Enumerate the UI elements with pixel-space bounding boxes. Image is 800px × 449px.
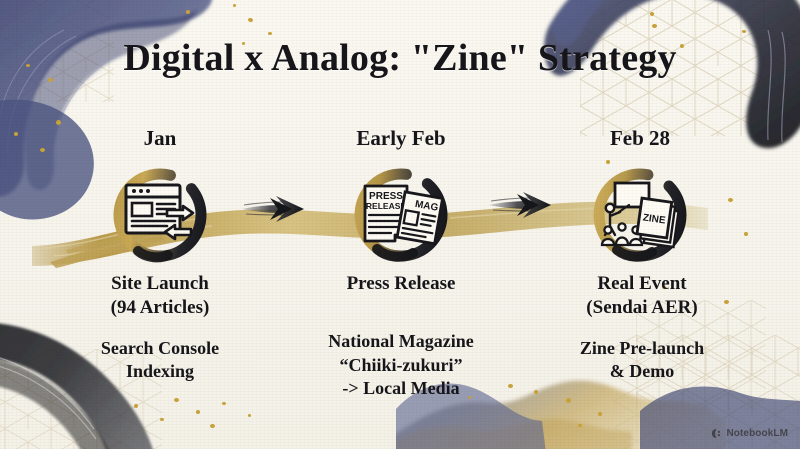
step-1-headline-line2: (94 Articles): [45, 296, 275, 320]
step-2-sub-line3: -> Local Media: [286, 377, 516, 400]
step-3-sub: Zine Pre-launch & Demo: [527, 337, 757, 384]
gold-fleck: [652, 24, 657, 28]
gold-fleck: [186, 10, 190, 14]
step-2-date: Early Feb: [301, 126, 501, 151]
gold-fleck: [578, 424, 582, 427]
step-1-sub-line1: Search Console: [45, 337, 275, 360]
connector-arrow-1: [240, 190, 312, 226]
gold-fleck: [233, 4, 236, 7]
slide-canvas: PRESS RELEASE MAG: [0, 0, 800, 449]
step-3-headline: Real Event (Sendai AER): [527, 272, 757, 321]
step-3-sub-line2: & Demo: [527, 360, 757, 383]
step-2-caption: Press Release National Magazine “Chiiki-…: [286, 272, 516, 400]
step-1-sub: Search Console Indexing: [45, 337, 275, 384]
page-title: Digital x Analog: "Zine" Strategy: [0, 38, 800, 80]
gold-fleck: [210, 424, 215, 428]
gold-fleck: [742, 30, 746, 33]
gold-fleck: [566, 398, 571, 403]
step-2-headline: Press Release: [286, 272, 516, 296]
gold-fleck: [247, 17, 253, 22]
gold-fleck: [134, 404, 138, 408]
presentation-zine-icon: ZINE: [599, 181, 681, 249]
gold-fleck: [728, 198, 733, 202]
step-1-sub-line2: Indexing: [45, 360, 275, 383]
gold-fleck: [222, 402, 226, 405]
notebooklm-logo-icon: [711, 428, 722, 439]
step-1-icon: [108, 163, 212, 267]
step-1-caption: Site Launch (94 Articles) Search Console…: [45, 272, 275, 383]
connector-arrow-2: [487, 186, 559, 222]
gold-fleck: [598, 412, 602, 416]
gold-fleck: [268, 32, 272, 35]
gold-fleck: [248, 414, 251, 417]
step-3-icon: ZINE: [588, 163, 692, 267]
gold-fleck: [14, 132, 18, 136]
gold-fleck: [744, 232, 748, 236]
step-2-icon: PRESS RELEASE MAG: [349, 163, 453, 267]
notebooklm-watermark: NotebookLM: [711, 428, 788, 439]
browser-window-sync-icon: [123, 182, 197, 248]
step-3-caption: Real Event (Sendai AER) Zine Pre-launch …: [527, 272, 757, 383]
step-3-date: Feb 28: [540, 126, 740, 151]
step-2-sub-line2: “Chiiki-zukuri”: [286, 354, 516, 377]
release-label: RELEASE: [366, 201, 406, 211]
gold-fleck: [196, 410, 200, 414]
notebooklm-label: NotebookLM: [726, 428, 788, 439]
gold-fleck: [174, 398, 179, 402]
step-1-headline-line1: Site Launch: [45, 272, 275, 296]
step-2-sub: National Magazine “Chiiki-zukuri” -> Loc…: [286, 330, 516, 400]
step-3-headline-line2: (Sendai AER): [527, 296, 757, 320]
step-3-headline-line1: Real Event: [527, 272, 757, 296]
gold-fleck: [56, 120, 61, 125]
gold-fleck: [40, 148, 45, 152]
step-1-headline: Site Launch (94 Articles): [45, 272, 275, 321]
watercolor-navy-top-left-small: [0, 96, 110, 226]
step-3-sub-line1: Zine Pre-launch: [527, 337, 757, 360]
step-1-date: Jan: [60, 126, 260, 151]
gold-fleck: [534, 390, 538, 394]
step-2-headline-line1: Press Release: [286, 272, 516, 296]
press-release-magazine-icon: PRESS RELEASE MAG: [361, 183, 441, 247]
gold-fleck: [650, 12, 654, 16]
step-2-sub-line1: National Magazine: [286, 330, 516, 353]
gold-fleck: [160, 418, 164, 421]
